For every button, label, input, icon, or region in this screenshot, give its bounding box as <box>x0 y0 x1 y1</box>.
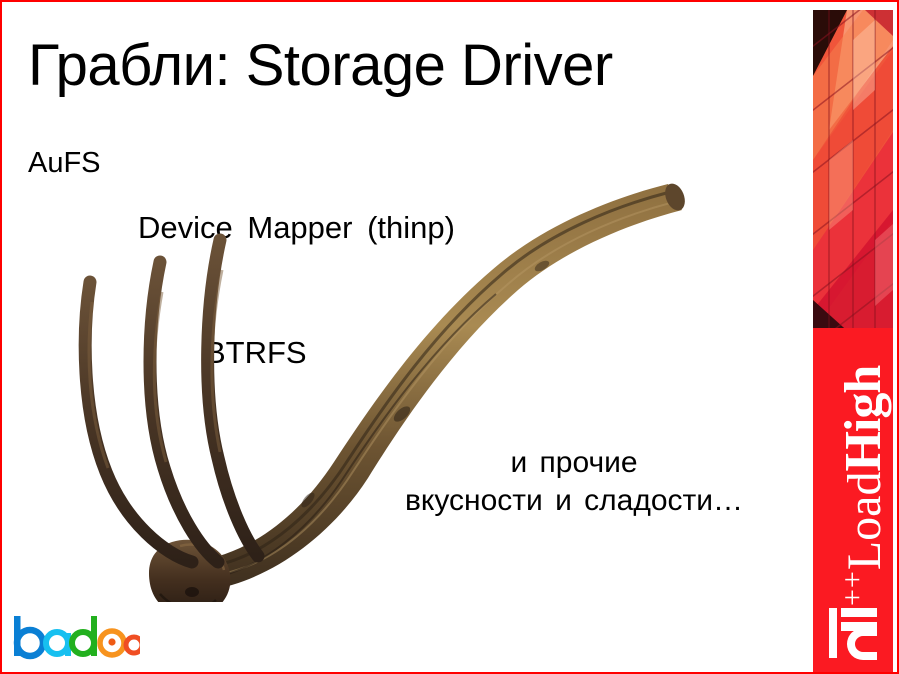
sidebar-abstract-photo <box>813 10 893 336</box>
highload-plus-plus: ++ <box>836 570 869 606</box>
closing-note-line-2: вкусности и сладости… <box>374 482 774 520</box>
rake-tine-3 <box>208 240 258 556</box>
brand-sidebar: ++LoadHigh <box>813 4 895 674</box>
badoo-letter-b <box>14 616 43 656</box>
highload-high-text: High <box>835 366 892 472</box>
storage-driver-item-device-mapper: Device Mapper (thinp) <box>138 210 455 246</box>
badoo-letter-o-1 <box>100 631 124 655</box>
closing-note-line-1: и прочие <box>374 444 774 482</box>
storage-driver-item-aufs: AuFS <box>28 147 101 180</box>
rake-tine-2 <box>150 262 218 562</box>
badoo-logo <box>10 616 140 660</box>
highload-wordmark: ++LoadHigh <box>813 334 893 604</box>
sidebar-red-panel: ++LoadHigh <box>813 334 893 674</box>
badoo-letter-a <box>46 632 71 656</box>
page-title: Грабли: Storage Driver <box>28 36 613 97</box>
rake-ferrule <box>149 540 230 602</box>
badoo-letter-d <box>72 616 97 656</box>
highload-load-text: Load <box>838 472 891 571</box>
storage-driver-item-btrfs: BTRFS <box>205 335 307 371</box>
slide-canvas: Грабли: Storage Driver AuFS Device Mappe… <box>0 0 899 674</box>
closing-note: и прочие вкусности и сладости… <box>374 444 774 519</box>
rake-tine-1 <box>85 282 192 562</box>
badoo-letter-o-2 <box>126 637 140 653</box>
highload-logo-icon <box>825 602 881 664</box>
